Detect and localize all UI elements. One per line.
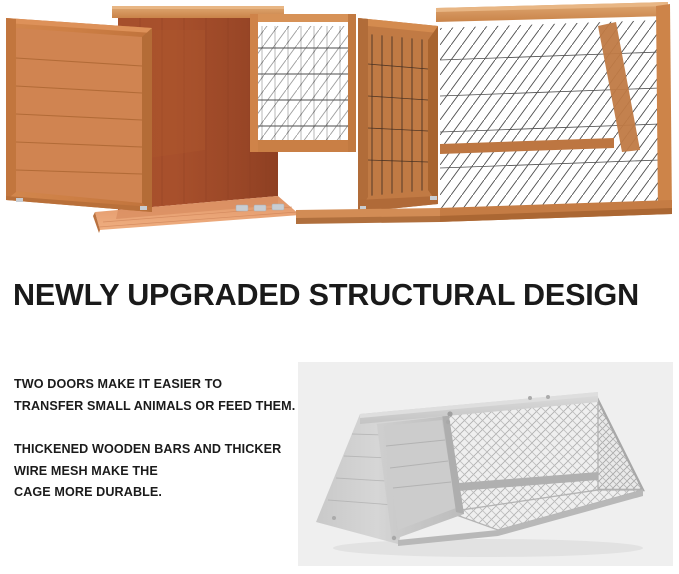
feature-line: CAGE MORE DURABLE. (14, 482, 294, 504)
hero-product-image (0, 0, 679, 240)
two-doors-feature: TWO DOORS MAKE IT EASIER TO TRANSFER SMA… (14, 374, 294, 417)
hutch-illustration (0, 0, 679, 240)
feature-line: TWO DOORS MAKE IT EASIER TO (14, 374, 294, 396)
feature-list: TWO DOORS MAKE IT EASIER TO TRANSFER SMA… (14, 374, 294, 504)
thickened-bars-feature: THICKENED WOODEN BARS AND THICKER WIRE M… (14, 439, 294, 504)
mesh-door-panel (358, 18, 438, 212)
wooden-door-panel (6, 18, 152, 212)
feature-line: TRANSFER SMALL ANIMALS OR FEED THEM. (14, 396, 294, 418)
a-frame-hutch-illustration (298, 362, 673, 566)
feature-line: THICKENED WOODEN BARS AND THICKER (14, 439, 294, 461)
page-title: NEWLY UPGRADED STRUCTURAL DESIGN (13, 278, 669, 314)
inset-product-image (298, 362, 673, 566)
triangular-mesh-run (436, 2, 672, 222)
feature-line: WIRE MESH MAKE THE (14, 461, 294, 483)
